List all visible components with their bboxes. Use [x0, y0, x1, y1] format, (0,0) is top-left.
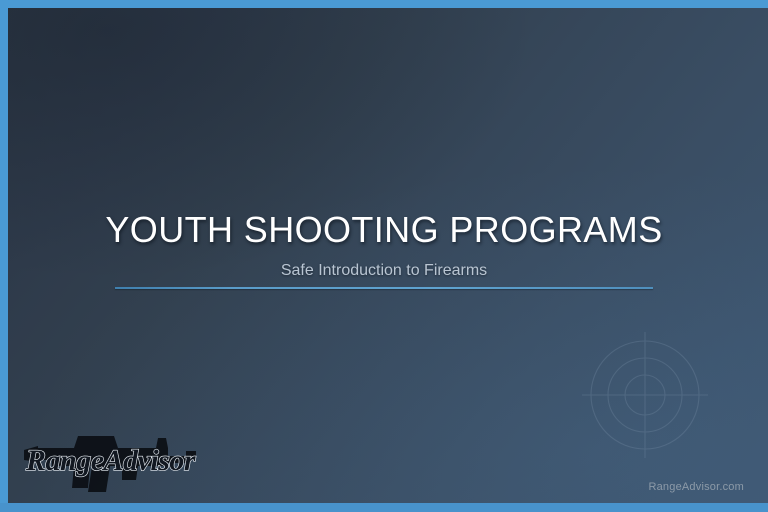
brand-logo: RangeAdvisor — [18, 418, 203, 498]
page-title: YOUTH SHOOTING PROGRAMS — [8, 208, 760, 252]
attribution-text: RangeAdvisor.com — [648, 481, 744, 493]
accent-border-top — [0, 0, 768, 8]
presentation-slide: YOUTH SHOOTING PROGRAMS Safe Introductio… — [0, 0, 768, 512]
accent-border-left — [0, 0, 8, 512]
page-subtitle: Safe Introduction to Firearms — [8, 260, 760, 282]
accent-border-bottom — [0, 503, 768, 512]
title-block: YOUTH SHOOTING PROGRAMS Safe Introductio… — [8, 208, 760, 282]
title-divider — [115, 287, 653, 289]
brand-wordmark: RangeAdvisor — [25, 444, 196, 477]
